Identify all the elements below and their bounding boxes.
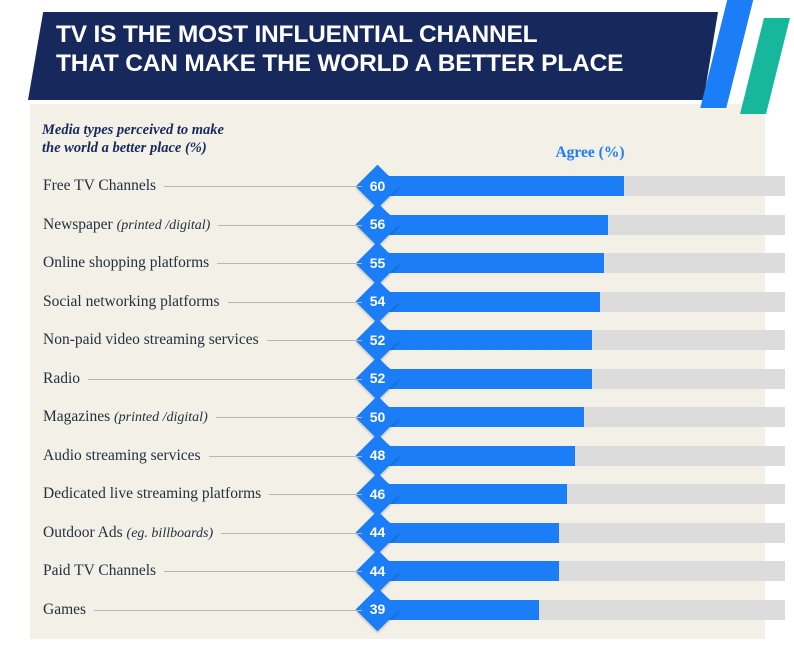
chart-row: Games39 [30, 596, 765, 635]
row-label-text: Radio [43, 370, 80, 387]
row-label-text: Paid TV Channels [43, 562, 156, 579]
bar-fill [382, 561, 559, 581]
row-label: Non-paid video streaming services [43, 331, 259, 349]
leader-line [94, 610, 362, 611]
leader-line [228, 302, 363, 303]
bar-fill [382, 253, 604, 273]
bar-track [382, 561, 785, 581]
bar-chart-rows: Free TV Channels60Newspaper (printed /di… [30, 172, 765, 634]
chart-row: Online shopping platforms55 [30, 249, 765, 288]
bar-track [382, 369, 785, 389]
row-label: Paid TV Channels [43, 562, 156, 580]
bar-fill [382, 330, 592, 350]
row-label-text: Outdoor Ads [43, 524, 127, 541]
leader-line [267, 340, 362, 341]
axis-label-agree: Agree (%) [465, 144, 715, 162]
value-badge-label: 46 [362, 479, 393, 510]
bar-fill [382, 523, 559, 543]
row-label-text: Games [43, 601, 86, 618]
chart-subtitle-line1: Media types perceived to make [42, 122, 224, 138]
value-badge-label: 48 [362, 440, 393, 471]
chart-row: Social networking platforms54 [30, 288, 765, 327]
row-label-note: (printed /digital) [114, 410, 208, 425]
bar-track [382, 292, 785, 312]
row-label-text: Newspaper [43, 216, 117, 233]
leader-line [218, 225, 362, 226]
row-label: Newspaper (printed /digital) [43, 216, 210, 234]
leader-line [88, 379, 362, 380]
row-label-text: Magazines [43, 408, 114, 425]
value-badge-label: 52 [362, 325, 393, 356]
row-label: Social networking platforms [43, 293, 220, 311]
row-label: Online shopping platforms [43, 254, 209, 272]
bar-fill [382, 446, 575, 466]
value-badge-label: 60 [362, 171, 393, 202]
chart-row: Outdoor Ads (eg. billboards)44 [30, 519, 765, 558]
value-badge-label: 54 [362, 286, 393, 317]
page-title: TV IS THE MOST INFLUENTIAL CHANNEL THAT … [56, 20, 676, 78]
bar-fill [382, 600, 539, 620]
bar-fill [382, 215, 608, 235]
value-badge-label: 39 [362, 594, 393, 625]
bar-fill [382, 292, 600, 312]
bar-fill [382, 484, 567, 504]
row-label-text: Online shopping platforms [43, 254, 209, 271]
row-label-text: Social networking platforms [43, 293, 220, 310]
bar-track [382, 523, 785, 543]
leader-line [164, 186, 362, 187]
chart-row: Non-paid video streaming services52 [30, 326, 765, 365]
chart-row: Paid TV Channels44 [30, 557, 765, 596]
decorative-stripe-teal [740, 18, 790, 114]
bar-track [382, 215, 785, 235]
chart-subtitle-line2: the world a better place (%) [42, 140, 332, 158]
row-label: Games [43, 601, 86, 619]
row-label: Audio streaming services [43, 447, 201, 465]
row-label: Radio [43, 370, 80, 388]
value-badge-label: 44 [362, 556, 393, 587]
value-badge-label: 55 [362, 248, 393, 279]
bar-fill [382, 176, 624, 196]
bar-track [382, 446, 785, 466]
row-label: Outdoor Ads (eg. billboards) [43, 524, 213, 542]
row-label: Magazines (printed /digital) [43, 408, 208, 426]
bar-fill [382, 407, 584, 427]
chart-subtitle: Media types perceived to make the world … [42, 122, 332, 157]
chart-row: Dedicated live streaming platforms46 [30, 480, 765, 519]
leader-line [269, 494, 362, 495]
row-label-note: (eg. billboards) [127, 526, 214, 541]
page-title-line2: THAT CAN MAKE THE WORLD A BETTER PLACE [56, 49, 676, 78]
leader-line [164, 571, 362, 572]
bar-track [382, 330, 785, 350]
page-title-line1: TV IS THE MOST INFLUENTIAL CHANNEL [56, 21, 537, 48]
leader-line [209, 456, 362, 457]
value-badge-label: 50 [362, 402, 393, 433]
bar-track [382, 600, 785, 620]
row-label: Free TV Channels [43, 177, 156, 195]
chart-row: Free TV Channels60 [30, 172, 765, 211]
chart-row: Radio52 [30, 365, 765, 404]
row-label-text: Free TV Channels [43, 177, 156, 194]
value-badge-label: 52 [362, 363, 393, 394]
row-label-note: (printed /digital) [117, 218, 211, 233]
bar-fill [382, 369, 592, 389]
row-label-text: Non-paid video streaming services [43, 331, 259, 348]
bar-track [382, 407, 785, 427]
bar-track [382, 484, 785, 504]
value-badge-label: 56 [362, 209, 393, 240]
row-label: Dedicated live streaming platforms [43, 485, 261, 503]
chart-row: Audio streaming services48 [30, 442, 765, 481]
row-label-text: Audio streaming services [43, 447, 201, 464]
chart-row: Magazines (printed /digital)50 [30, 403, 765, 442]
header-banner: TV IS THE MOST INFLUENTIAL CHANNEL THAT … [0, 0, 794, 104]
leader-line [217, 263, 362, 264]
chart-row: Newspaper (printed /digital)56 [30, 211, 765, 250]
leader-line [216, 417, 362, 418]
leader-line [221, 533, 362, 534]
value-badge-label: 44 [362, 517, 393, 548]
bar-track [382, 176, 785, 196]
row-label-text: Dedicated live streaming platforms [43, 485, 261, 502]
bar-track [382, 253, 785, 273]
